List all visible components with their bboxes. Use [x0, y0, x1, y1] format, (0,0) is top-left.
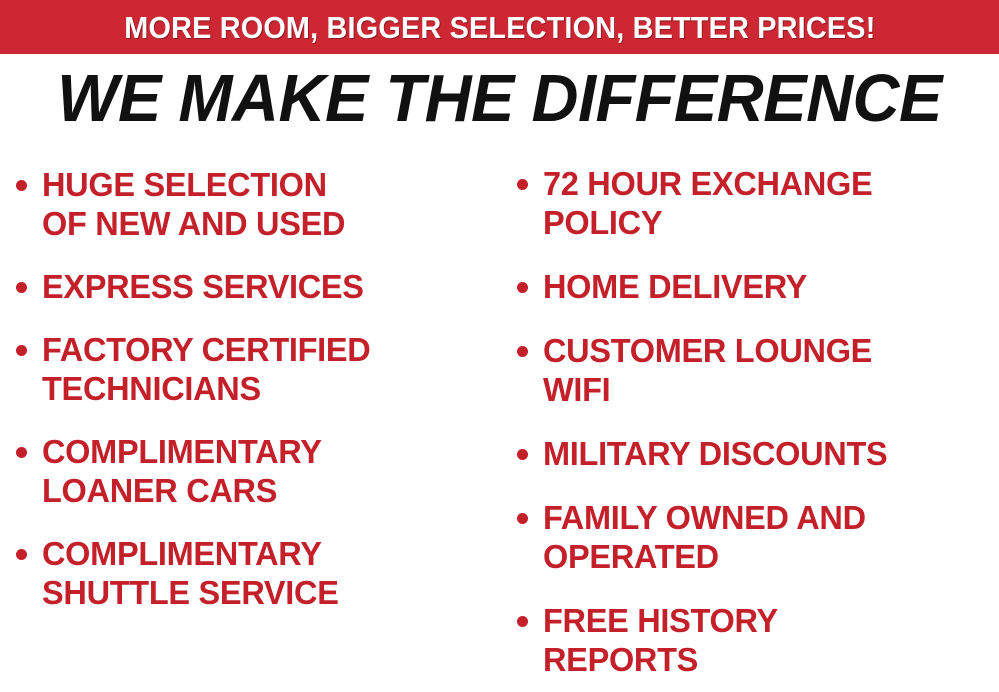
- list-item-label: FREE HISTORY REPORTS: [543, 601, 778, 679]
- benefits-columns: HUGE SELECTION OF NEW AND USED EXPRESS S…: [0, 152, 999, 692]
- list-item: EXPRESS SERVICES: [16, 267, 496, 306]
- promotional-poster: MORE ROOM, BIGGER SELECTION, BETTER PRIC…: [0, 0, 999, 692]
- bullet-dot-icon: [517, 282, 528, 293]
- benefits-column-left: HUGE SELECTION OF NEW AND USED EXPRESS S…: [16, 152, 496, 636]
- list-item-label: COMPLIMENTARY LOANER CARS: [42, 432, 322, 510]
- list-item-label: FACTORY CERTIFIED TECHNICIANS: [42, 330, 370, 408]
- list-item-label: MILITARY DISCOUNTS: [543, 434, 887, 473]
- list-item: COMPLIMENTARY LOANER CARS: [16, 432, 496, 510]
- list-item: FREE HISTORY REPORTS: [517, 601, 999, 679]
- list-item: FACTORY CERTIFIED TECHNICIANS: [16, 330, 496, 408]
- list-item: HUGE SELECTION OF NEW AND USED: [16, 165, 496, 243]
- bullet-dot-icon: [16, 345, 27, 356]
- benefits-column-right: 72 HOUR EXCHANGE POLICY HOME DELIVERY CU…: [517, 152, 999, 692]
- list-item: CUSTOMER LOUNGE WIFI: [517, 331, 999, 409]
- list-item-label: HOME DELIVERY: [543, 267, 807, 306]
- bullet-dot-icon: [16, 549, 27, 560]
- list-item: COMPLIMENTARY SHUTTLE SERVICE: [16, 534, 496, 612]
- list-item: HOME DELIVERY: [517, 267, 999, 306]
- bullet-dot-icon: [517, 449, 528, 460]
- list-item-label: COMPLIMENTARY SHUTTLE SERVICE: [42, 534, 339, 612]
- bullet-dot-icon: [517, 513, 528, 524]
- list-item-label: 72 HOUR EXCHANGE POLICY: [543, 164, 872, 242]
- banner-headline-text: MORE ROOM, BIGGER SELECTION, BETTER PRIC…: [124, 12, 875, 43]
- top-banner: MORE ROOM, BIGGER SELECTION, BETTER PRIC…: [0, 0, 999, 54]
- page-title: WE MAKE THE DIFFERENCE: [15, 63, 984, 135]
- list-item: 72 HOUR EXCHANGE POLICY: [517, 164, 999, 242]
- list-item-label: CUSTOMER LOUNGE WIFI: [543, 331, 872, 409]
- list-item-label: EXPRESS SERVICES: [42, 267, 364, 306]
- bullet-dot-icon: [16, 282, 27, 293]
- list-item-label: HUGE SELECTION OF NEW AND USED: [42, 165, 345, 243]
- list-item: MILITARY DISCOUNTS: [517, 434, 999, 473]
- bullet-dot-icon: [517, 346, 528, 357]
- bullet-dot-icon: [517, 616, 528, 627]
- bullet-dot-icon: [16, 447, 27, 458]
- bullet-dot-icon: [517, 179, 528, 190]
- bullet-dot-icon: [16, 180, 27, 191]
- list-item: FAMILY OWNED AND OPERATED: [517, 498, 999, 576]
- list-item-label: FAMILY OWNED AND OPERATED: [543, 498, 866, 576]
